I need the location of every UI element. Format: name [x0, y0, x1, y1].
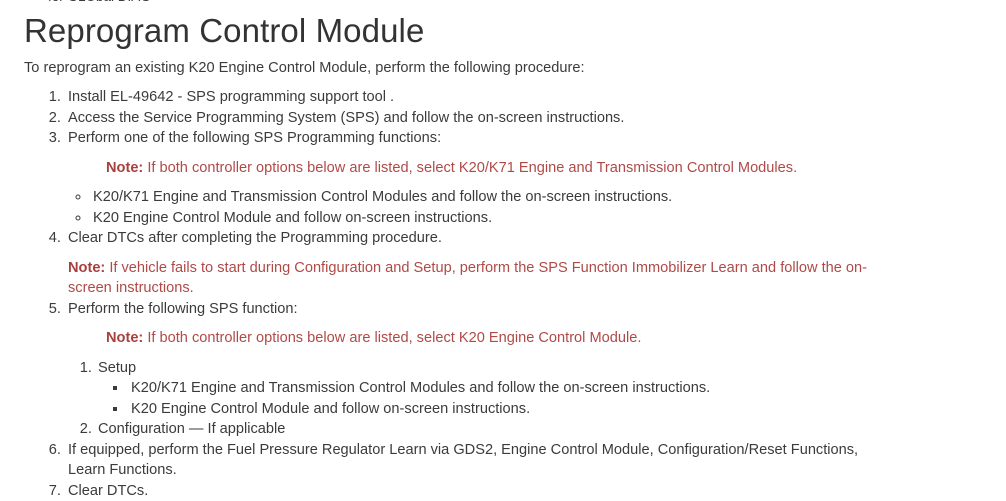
procedure-step-1: Install EL-49642 - SPS programming suppo…: [65, 87, 982, 108]
setup-option-list: K20/K71 Engine and Transmission Control …: [98, 378, 982, 419]
procedure-step-list: Install EL-49642 - SPS programming suppo…: [24, 87, 982, 501]
step-3-option-list: K20/K71 Engine and Transmission Control …: [68, 187, 982, 228]
procedure-step-7: Clear DTCs.: [65, 481, 982, 501]
substep-setup: Setup K20/K71 Engine and Transmission Co…: [96, 358, 982, 420]
step-5-text: Perform the following SPS function:: [68, 301, 298, 317]
procedure-step-6: If equipped, perform the Fuel Pressure R…: [65, 440, 894, 481]
substep-configuration: Configuration — If applicable: [96, 419, 982, 440]
step-3-option-1: K20/K71 Engine and Transmission Control …: [93, 189, 672, 205]
note-step-4: Note: If vehicle fails to start during C…: [68, 258, 890, 299]
page-title: Reprogram Control Module: [24, 0, 982, 51]
step-4-text: Clear DTCs after completing the Programm…: [68, 230, 442, 246]
note-label: Note:: [106, 330, 143, 346]
procedure-step-4: Clear DTCs after completing the Programm…: [65, 228, 982, 299]
note-label: Note:: [106, 160, 143, 176]
step-1-text: Install EL-49642 - SPS programming suppo…: [68, 89, 394, 105]
step-2-text: Access the Service Programming System (S…: [68, 110, 624, 126]
note-step-3-text: If both controller options below are lis…: [143, 160, 797, 176]
clipped-preceding-line: for GLObal DIAG: [48, 0, 151, 4]
note-step-4-text: If vehicle fails to start during Configu…: [68, 260, 867, 297]
step-5-substep-list: Setup K20/K71 Engine and Transmission Co…: [68, 358, 982, 440]
note-label: Note:: [68, 260, 105, 276]
list-item: K20 Engine Control Module and follow on-…: [91, 208, 982, 229]
procedure-step-2: Access the Service Programming System (S…: [65, 108, 982, 129]
substep-1-text: Setup: [98, 360, 136, 376]
step-7-text: Clear DTCs.: [68, 483, 148, 499]
list-item: K20/K71 Engine and Transmission Control …: [91, 187, 982, 208]
intro-paragraph: To reprogram an existing K20 Engine Cont…: [24, 58, 982, 78]
setup-option-2: K20 Engine Control Module and follow on-…: [131, 401, 530, 417]
substep-2-text: Configuration — If applicable: [98, 421, 285, 437]
step-3-option-2: K20 Engine Control Module and follow on-…: [93, 210, 492, 226]
document-page: for GLObal DIAG Reprogram Control Module…: [0, 0, 1006, 474]
setup-option-1: K20/K71 Engine and Transmission Control …: [131, 380, 710, 396]
list-item: K20/K71 Engine and Transmission Control …: [128, 378, 982, 399]
note-step-5-text: If both controller options below are lis…: [143, 330, 641, 346]
procedure-step-5: Perform the following SPS function: Note…: [65, 299, 982, 440]
step-3-text: Perform one of the following SPS Program…: [68, 130, 441, 146]
note-step-5: Note: If both controller options below a…: [106, 328, 982, 349]
step-6-text: If equipped, perform the Fuel Pressure R…: [68, 442, 858, 479]
list-item: K20 Engine Control Module and follow on-…: [128, 399, 982, 420]
note-step-3: Note: If both controller options below a…: [106, 158, 982, 179]
procedure-step-3: Perform one of the following SPS Program…: [65, 128, 982, 228]
